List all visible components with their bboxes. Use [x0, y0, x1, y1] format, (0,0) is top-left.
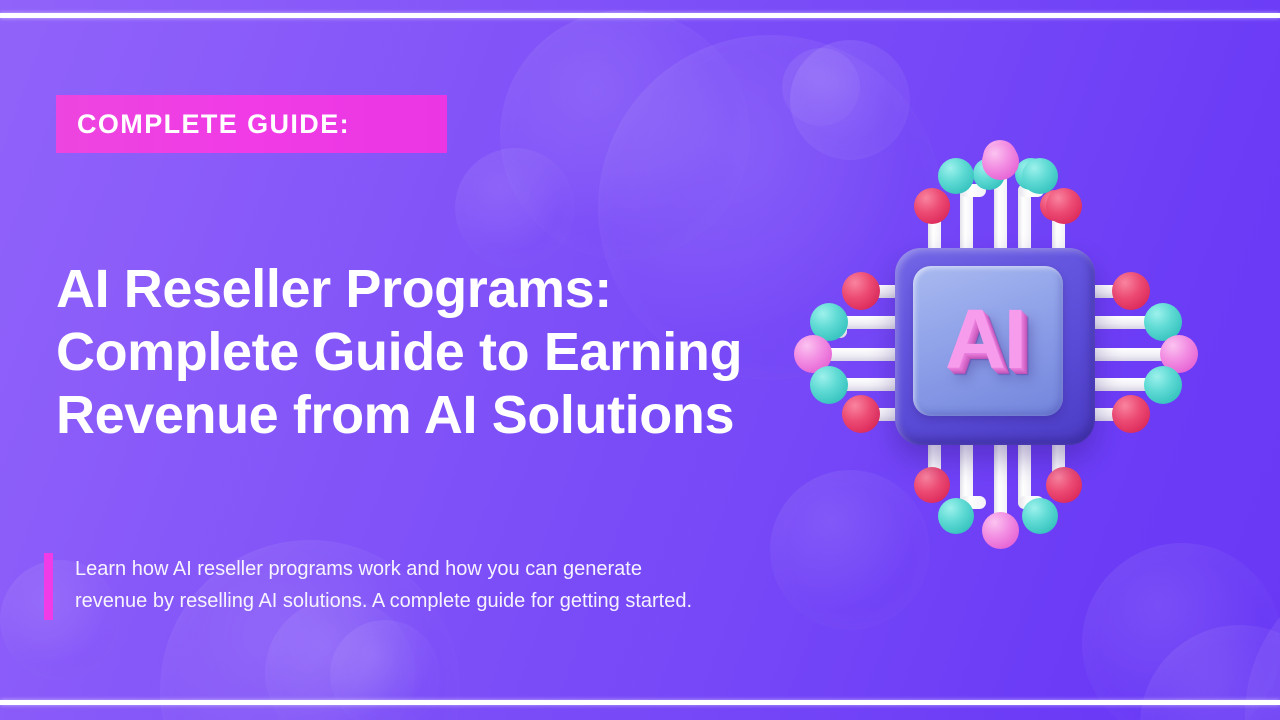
chip-body: AI [895, 248, 1095, 445]
chip-node-bottom-teal-right [1022, 498, 1058, 534]
chip-node-top-pink-cap [982, 143, 1019, 180]
chip-ai-label: AI [945, 297, 1025, 381]
chip-inner-die: AI [913, 266, 1063, 416]
headline-line-3: Revenue from AI Solutions [56, 384, 776, 447]
chip-node-right-red-top [1112, 272, 1150, 310]
subtitle-block: Learn how AI reseller programs work and … [44, 553, 865, 620]
badge-label: COMPLETE GUIDE: [77, 111, 350, 138]
chip-node-right-red-bottom [1112, 395, 1150, 433]
chip-node-bottom-red-right [1046, 467, 1082, 503]
banner-content: COMPLETE GUIDE: AI Reseller Programs: Co… [0, 0, 820, 720]
chip-node-top-teal-right-cap [1022, 158, 1058, 194]
chip-node-bottom-red-left [914, 467, 950, 503]
chip-node-top-red-right-cap [1046, 188, 1082, 224]
chip-node-top-red-left-cap [914, 188, 950, 224]
bubble-decoration [1082, 543, 1280, 720]
chip-node-top-teal-left-cap [938, 158, 974, 194]
headline-line-2: Complete Guide to Earning [56, 321, 776, 384]
subtitle-accent-bar [44, 553, 53, 620]
ai-chip-illustration: AI [800, 140, 1200, 550]
complete-guide-badge: COMPLETE GUIDE: [56, 95, 447, 153]
subtitle-text: Learn how AI reseller programs work and … [75, 553, 865, 620]
bubble-decoration [1245, 560, 1280, 720]
headline-line-1: AI Reseller Programs: [56, 258, 776, 321]
chip-node-bottom-teal-left [938, 498, 974, 534]
chip-node-left-red-top [842, 272, 880, 310]
subtitle-line-1: Learn how AI reseller programs work and … [75, 553, 865, 585]
page-title: AI Reseller Programs: Complete Guide to … [56, 258, 776, 447]
chip-node-right-teal-bottom [1144, 366, 1182, 404]
chip-node-bottom-pink-center [982, 512, 1019, 549]
ai-reseller-banner: AI COMPLETE GUIDE: AI Reseller Programs:… [0, 0, 1280, 720]
bubble-decoration [1140, 625, 1280, 720]
subtitle-line-2: revenue by reselling AI solutions. A com… [75, 585, 865, 617]
chip-node-left-red-bottom [842, 395, 880, 433]
chip-stage: AI [800, 140, 1200, 550]
